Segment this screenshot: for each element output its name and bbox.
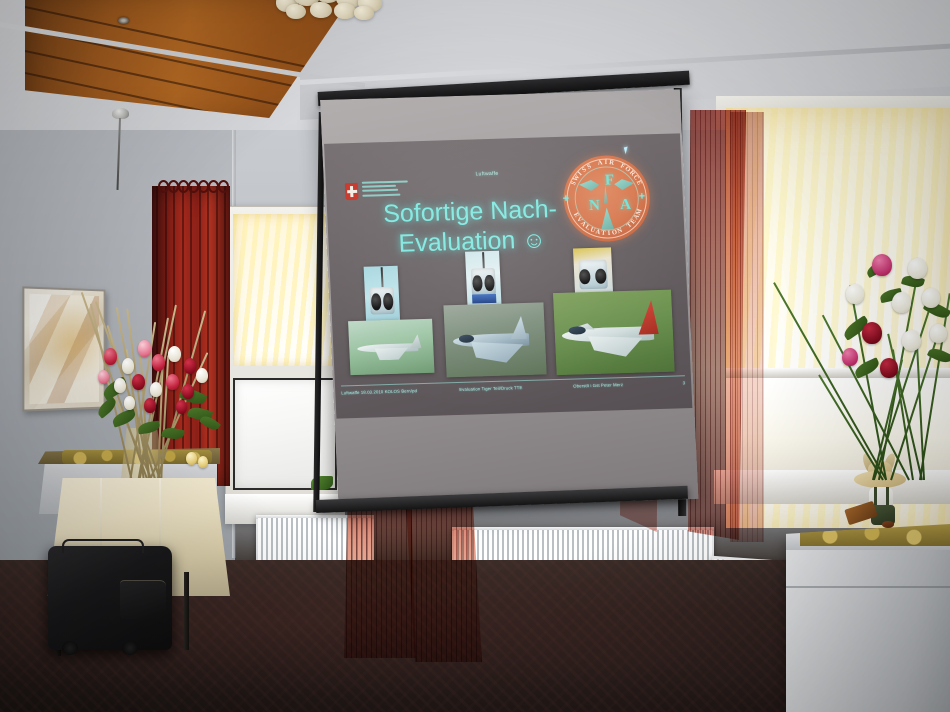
voile-thread bbox=[732, 112, 733, 542]
bouquet-flower bbox=[138, 340, 151, 357]
roundel-cross-left: + bbox=[562, 193, 569, 205]
model-jet-3 bbox=[553, 290, 675, 375]
presentation-slide[interactable]: Luftwaffe Sofortige Nach- Evaluation ☺ S… bbox=[324, 133, 692, 418]
footer-page-number: 3 bbox=[683, 380, 686, 385]
transmitter-antenna bbox=[381, 267, 384, 287]
roundel-letter-a: A bbox=[620, 197, 632, 214]
bouquet-flower bbox=[144, 398, 156, 413]
lamp-petal bbox=[354, 6, 374, 20]
bouquet-flower bbox=[922, 288, 940, 308]
bouquet-flower bbox=[132, 374, 145, 390]
bag-wheel-right bbox=[122, 641, 138, 655]
bouquet-flower bbox=[842, 348, 858, 366]
roundel-letter-n: N bbox=[589, 198, 601, 215]
transmitter-stick-left bbox=[371, 293, 381, 310]
right-pedestal bbox=[786, 540, 950, 712]
transmitter-stick-right bbox=[484, 274, 494, 291]
bouquet-flower bbox=[872, 254, 892, 276]
footer-right: Oberstlt i Gst Peter Merz bbox=[573, 382, 623, 388]
bouquet-flower bbox=[152, 354, 165, 371]
voile-thread bbox=[700, 110, 701, 540]
figurine-strap-left bbox=[874, 487, 877, 506]
model-jet-1 bbox=[348, 319, 434, 375]
curtain-pleat bbox=[224, 186, 226, 486]
transmitter-stick-left bbox=[579, 269, 590, 284]
bouquet-flower bbox=[122, 358, 134, 374]
rc-transmitter-3 bbox=[573, 247, 613, 296]
bouquet-leaf bbox=[161, 426, 185, 441]
ceiling-recessed-fitting bbox=[118, 17, 129, 24]
voile-thread bbox=[757, 112, 758, 542]
bouquet-flower bbox=[196, 368, 208, 383]
slide-org-label: Luftwaffe bbox=[475, 171, 498, 178]
slide-title-line1: Sofortige Nach- bbox=[383, 195, 558, 228]
bag-front-pocket bbox=[120, 580, 166, 619]
bouquet-flower bbox=[184, 358, 196, 374]
black-rolling-briefcase bbox=[48, 546, 172, 650]
bouquet-flower bbox=[846, 284, 864, 304]
transmitter-display bbox=[472, 293, 496, 303]
bouquet-flower bbox=[880, 358, 898, 378]
swiss-air-force-evaluation-team-roundel: SWISS AIR FORCE EVALUATION TEAM F N A + … bbox=[562, 154, 652, 242]
bouquet-flower bbox=[168, 346, 181, 362]
transmitter-stick-left bbox=[472, 275, 482, 292]
bag-handle bbox=[62, 539, 144, 553]
voile-thread bbox=[747, 112, 748, 542]
figurine-strap-right bbox=[886, 487, 889, 506]
roundel-letter-f: F bbox=[605, 172, 615, 189]
voile-thread bbox=[752, 112, 753, 542]
voile-thread bbox=[737, 112, 738, 542]
roundel-arc-char: T bbox=[601, 230, 607, 237]
table-leg-right bbox=[184, 572, 189, 650]
lamp-petal bbox=[334, 3, 356, 19]
jet-wing bbox=[375, 348, 409, 361]
rc-transmitter-1 bbox=[364, 266, 401, 323]
voile-thread bbox=[742, 112, 743, 542]
voile-thread bbox=[710, 110, 711, 540]
bouquet-flower bbox=[114, 378, 126, 393]
voile-thread bbox=[762, 112, 763, 542]
bouquet-flower bbox=[930, 324, 947, 343]
lamp-petal bbox=[286, 4, 306, 19]
transmitter-stick-right bbox=[595, 269, 606, 284]
bouquet-flower bbox=[862, 322, 882, 344]
rose-bouquet bbox=[836, 230, 950, 480]
bouquet-flower bbox=[902, 330, 921, 351]
bouquet-flower bbox=[182, 384, 194, 399]
mouse-pointer-icon bbox=[624, 147, 630, 155]
lamp-petal bbox=[310, 2, 332, 18]
bouquet-flower bbox=[176, 400, 187, 414]
curtain-ring bbox=[218, 180, 229, 193]
rc-transmitter-2 bbox=[465, 251, 502, 308]
voile-thread bbox=[705, 110, 706, 540]
roundel-cross-right: + bbox=[638, 190, 645, 202]
confederation-text-lines bbox=[362, 180, 411, 198]
footer-left: Luftwaffe 18.03.2010 KOLOS Bern/pd bbox=[341, 388, 417, 395]
jet-canopy bbox=[569, 326, 586, 335]
voile-thread bbox=[720, 110, 721, 540]
jet-tail bbox=[409, 334, 421, 348]
voile-thread bbox=[715, 110, 716, 540]
transmitter-stick-right bbox=[383, 293, 393, 310]
bouquet-flower bbox=[150, 382, 162, 397]
footer-center: Evaluation Tiger Teil/Druck TTE bbox=[459, 385, 522, 392]
left-window-lower-glass bbox=[233, 378, 337, 490]
tulip-rose-bouquet bbox=[92, 262, 222, 482]
jet-wing bbox=[588, 335, 643, 358]
bag-wheel-left bbox=[62, 641, 78, 655]
room-photograph: Luftwaffe Sofortige Nach- Evaluation ☺ S… bbox=[0, 0, 950, 712]
smiley-icon: ☺ bbox=[522, 226, 547, 253]
pedestal-seam bbox=[786, 586, 950, 588]
red-sheer-voile-right-b bbox=[730, 112, 764, 542]
bouquet-flower bbox=[908, 258, 927, 279]
swiss-cross-shield-icon bbox=[345, 183, 359, 200]
voile-thread bbox=[725, 110, 726, 540]
projector-screen[interactable]: Luftwaffe Sofortige Nach- Evaluation ☺ S… bbox=[320, 89, 698, 509]
cluster-ceiling-lamp bbox=[272, 0, 392, 28]
model-jet-2 bbox=[443, 302, 546, 377]
figurine-foot bbox=[882, 521, 894, 528]
bouquet-flower bbox=[104, 348, 117, 365]
bouquet-flower bbox=[98, 370, 109, 384]
bouquet-flower bbox=[166, 374, 179, 390]
bouquet-flower bbox=[124, 396, 135, 410]
bouquet-flower bbox=[892, 292, 911, 313]
